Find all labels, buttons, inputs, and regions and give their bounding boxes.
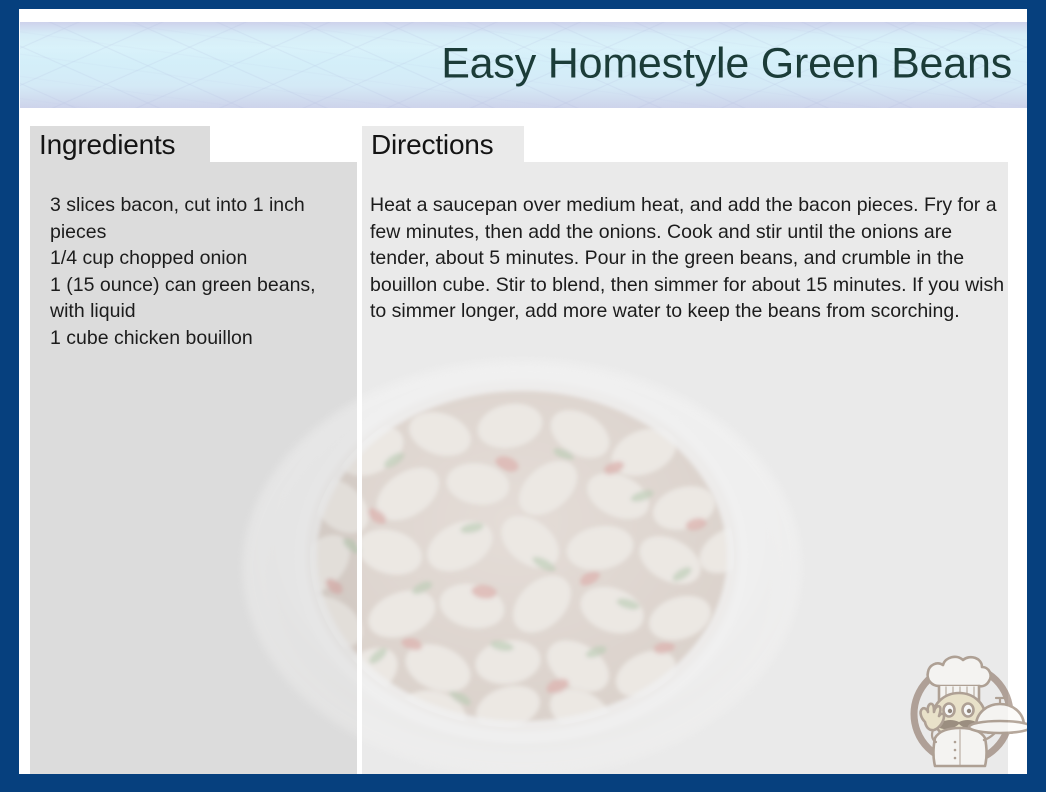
page-title: Easy Homestyle Green Beans — [441, 42, 1012, 87]
frame-border-left — [0, 0, 19, 792]
ingredients-heading: Ingredients — [39, 131, 175, 159]
recipe-card-slide: Easy Homestyle Green Beans — [0, 0, 1046, 792]
directions-body: Heat a saucepan over medium heat, and ad… — [370, 192, 1010, 325]
title-banner: Easy Homestyle Green Beans — [20, 22, 1028, 108]
frame-border-top — [0, 0, 1046, 9]
ingredients-list: 3 slices bacon, cut into 1 inch pieces 1… — [50, 192, 350, 351]
frame-border-right — [1027, 0, 1046, 792]
directions-heading: Directions — [371, 131, 493, 159]
frame-border-bottom — [0, 774, 1046, 792]
section-header-directions: Directions — [362, 126, 524, 164]
panel-divider — [357, 162, 362, 774]
section-header-ingredients: Ingredients — [30, 126, 210, 164]
